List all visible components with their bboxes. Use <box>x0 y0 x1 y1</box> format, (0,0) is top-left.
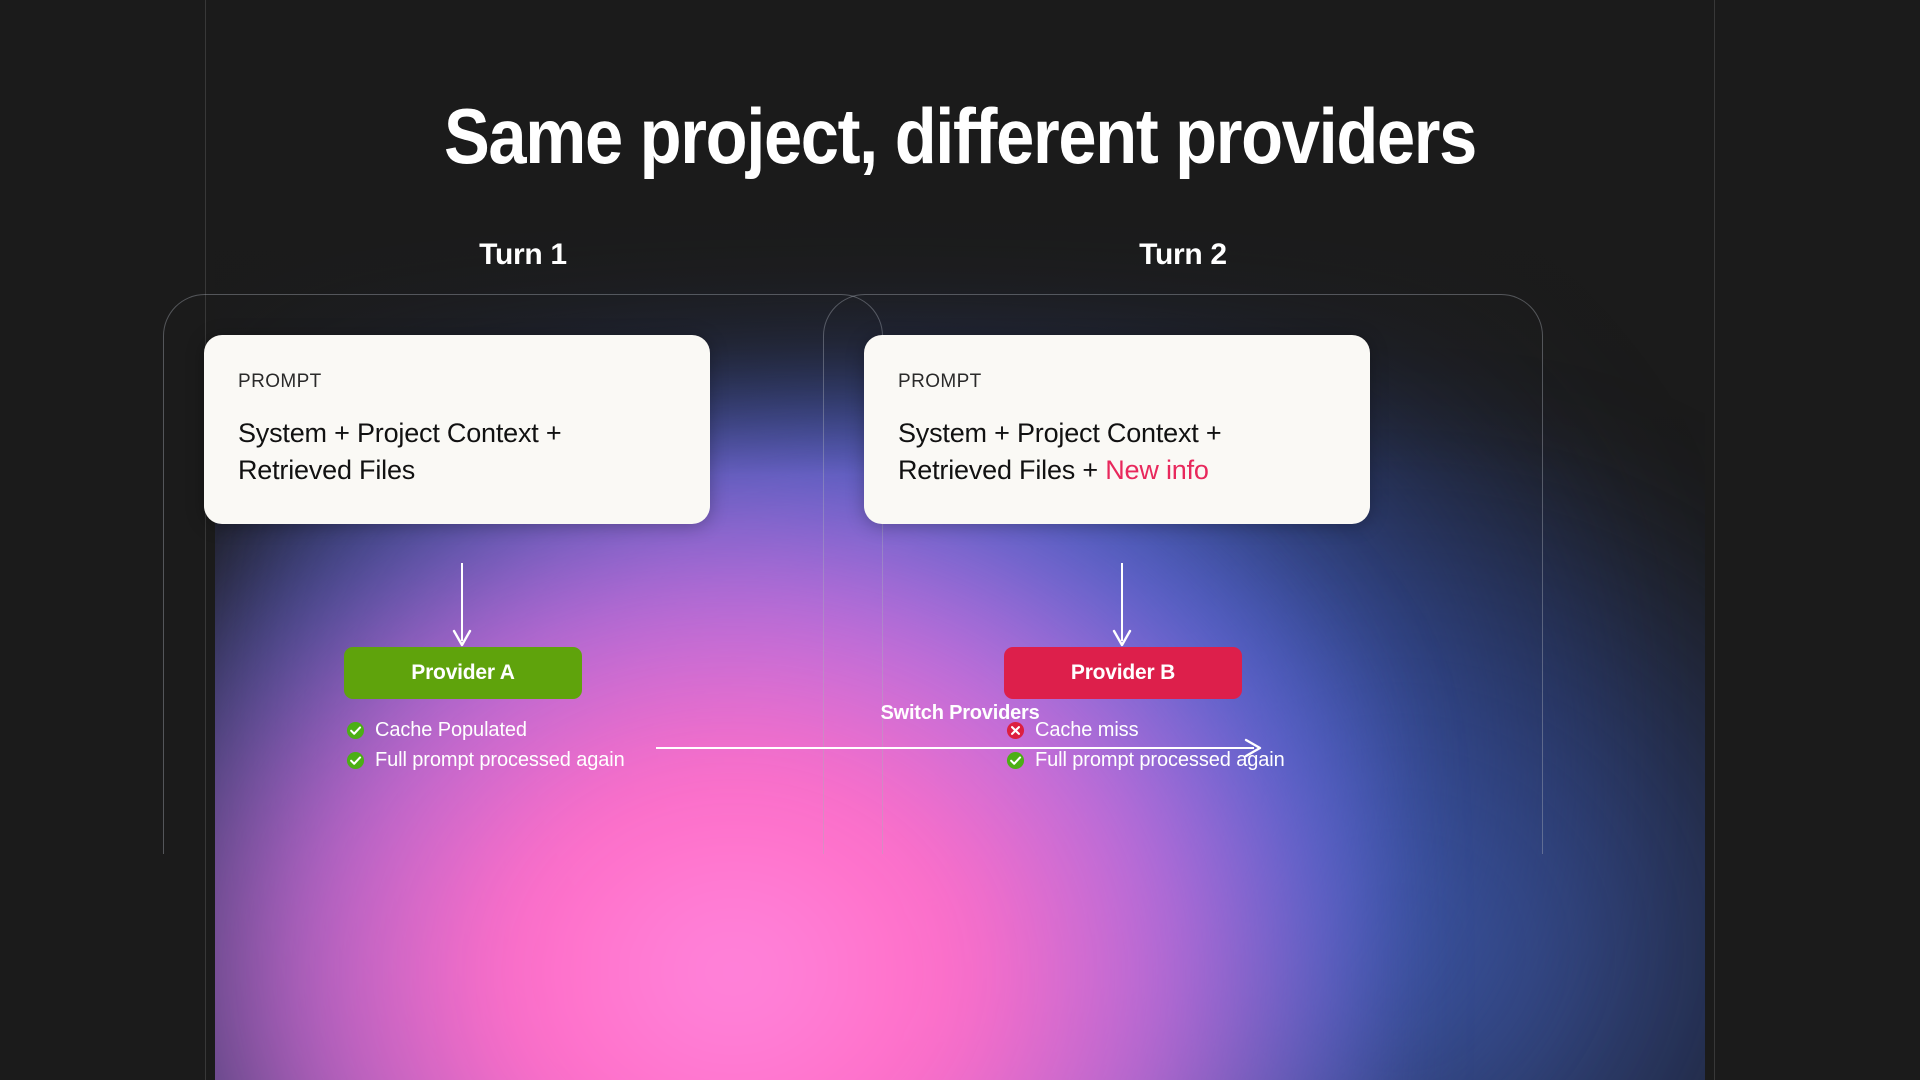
switch-providers-connector: Switch Providers <box>656 702 1264 766</box>
diagram-canvas: Same project, different providers Turn 1… <box>0 0 1920 1080</box>
provider-a-button[interactable]: Provider A <box>344 647 582 699</box>
provider-a-label: Provider A <box>411 661 514 685</box>
turn-2-label: Turn 2 <box>823 238 1543 272</box>
check-circle-icon <box>346 751 365 770</box>
turn-1-panel: PROMPT System + Project Context + Retrie… <box>163 294 883 854</box>
check-circle-icon <box>346 721 365 740</box>
turn-1-prompt-card: PROMPT System + Project Context + Retrie… <box>204 335 710 524</box>
prompt-text: System + Project Context + Retrieved Fil… <box>238 415 676 490</box>
flow-arrow-down-icon <box>1111 563 1133 649</box>
provider-b-button[interactable]: Provider B <box>1004 647 1242 699</box>
page-title: Same project, different providers <box>115 96 1805 178</box>
flow-arrow-down-icon <box>451 563 473 649</box>
turn-2-prompt-card: PROMPT System + Project Context + Retrie… <box>864 335 1370 524</box>
status-label: Full prompt processed again <box>375 749 625 772</box>
status-label: Cache Populated <box>375 719 527 742</box>
turn-1-label: Turn 1 <box>163 238 883 272</box>
prompt-text: System + Project Context + Retrieved Fil… <box>898 415 1336 490</box>
turn-2-panel: PROMPT System + Project Context + Retrie… <box>823 294 1543 854</box>
prompt-kicker: PROMPT <box>898 371 1336 393</box>
prompt-text-main: System + Project Context + Retrieved Fil… <box>238 418 561 485</box>
flow-arrow-right-icon <box>656 738 1264 758</box>
prompt-kicker: PROMPT <box>238 371 676 393</box>
switch-providers-label: Switch Providers <box>656 702 1264 725</box>
prompt-text-highlight: New info <box>1105 455 1208 485</box>
provider-b-label: Provider B <box>1071 661 1175 685</box>
